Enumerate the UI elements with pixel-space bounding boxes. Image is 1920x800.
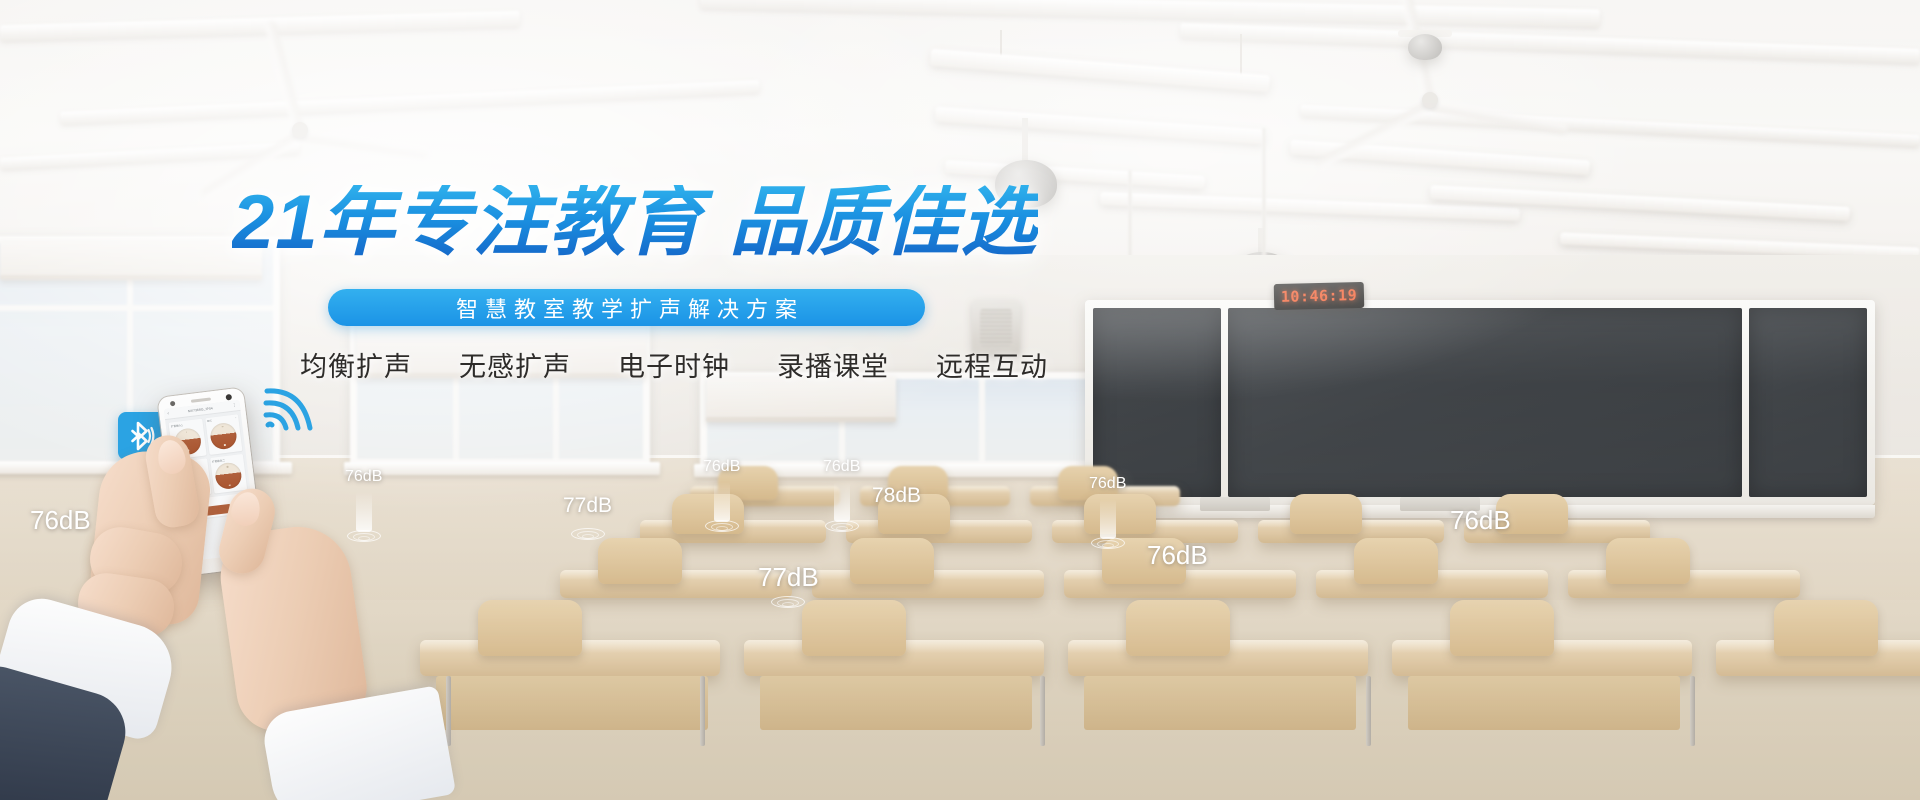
speaker-stem bbox=[1022, 118, 1028, 162]
student-chair bbox=[1774, 600, 1878, 656]
fan-hub bbox=[292, 122, 308, 138]
window-blind bbox=[356, 322, 646, 378]
student-desk-panel bbox=[436, 676, 708, 730]
ceiling-dome-speaker bbox=[1408, 34, 1442, 60]
db-value-label: 76dB bbox=[1089, 475, 1126, 493]
db-value-label: 76dB bbox=[703, 458, 740, 476]
student-chair bbox=[1126, 600, 1230, 656]
student-chair bbox=[802, 600, 906, 656]
db-marker: 76dB bbox=[1089, 475, 1126, 493]
student-chair bbox=[1290, 494, 1362, 534]
db-marker: 76dB bbox=[1147, 540, 1208, 571]
window-mullion bbox=[0, 305, 273, 311]
blind-bottom-rail bbox=[706, 417, 896, 422]
hand-holding-phone bbox=[0, 380, 430, 800]
pendant-microphone-pole bbox=[1262, 128, 1266, 258]
window-mullion bbox=[979, 379, 985, 461]
db-ripple-ring bbox=[582, 534, 594, 539]
desk-leg bbox=[1690, 676, 1695, 746]
db-value-label: 77dB bbox=[758, 562, 819, 593]
db-marker: 77dB bbox=[758, 562, 819, 593]
light-fixture-rod bbox=[1240, 34, 1242, 76]
desk-leg bbox=[446, 676, 451, 746]
db-ripple-ring bbox=[716, 526, 728, 531]
student-chair bbox=[1450, 600, 1554, 656]
db-beam bbox=[714, 482, 730, 522]
digital-clock-icon: 10:46:19 bbox=[1274, 282, 1365, 310]
student-chair bbox=[478, 600, 582, 656]
db-value-label: 76dB bbox=[1147, 540, 1208, 571]
db-ripple-ring bbox=[782, 602, 794, 607]
blackboard-control-panel bbox=[1200, 497, 1270, 511]
student-desk-panel bbox=[1408, 676, 1680, 730]
db-beam bbox=[1100, 499, 1116, 539]
window-blind bbox=[0, 240, 262, 280]
db-value-label: 77dB bbox=[563, 494, 612, 518]
db-ripple-ring bbox=[836, 526, 848, 531]
window-blind bbox=[706, 376, 896, 422]
db-ripple-ring bbox=[1102, 543, 1114, 548]
student-chair bbox=[850, 538, 934, 584]
clock-time-display: 10:46:19 bbox=[1281, 286, 1358, 306]
student-desk-panel bbox=[760, 676, 1032, 730]
student-desk-panel bbox=[1084, 676, 1356, 730]
student-chair bbox=[1084, 494, 1156, 534]
db-beam bbox=[834, 482, 850, 522]
db-marker: 76dB bbox=[703, 458, 740, 476]
student-chair bbox=[1354, 538, 1438, 584]
student-chair bbox=[1606, 538, 1690, 584]
db-value-label: 76dB bbox=[1450, 505, 1511, 536]
db-marker: 78dB bbox=[872, 484, 921, 508]
desk-leg bbox=[700, 676, 705, 746]
db-marker: 76dB bbox=[823, 458, 860, 476]
fan-hub bbox=[1422, 92, 1438, 108]
board-panel-center bbox=[1228, 308, 1742, 497]
board-panel-right bbox=[1749, 308, 1867, 497]
db-value-label: 78dB bbox=[872, 484, 921, 508]
db-value-label: 76dB bbox=[823, 458, 860, 476]
db-marker: 77dB bbox=[563, 494, 612, 518]
blind-bottom-rail bbox=[0, 275, 262, 280]
classroom-blackboard bbox=[1085, 300, 1875, 505]
desk-leg bbox=[1040, 676, 1045, 746]
desk-leg bbox=[1366, 676, 1371, 746]
ceiling-dome-speaker bbox=[995, 160, 1057, 208]
db-marker: 76dB bbox=[1450, 505, 1511, 536]
blind-bottom-rail bbox=[356, 373, 646, 378]
student-chair bbox=[598, 538, 682, 584]
wall-speaker bbox=[972, 300, 1020, 355]
